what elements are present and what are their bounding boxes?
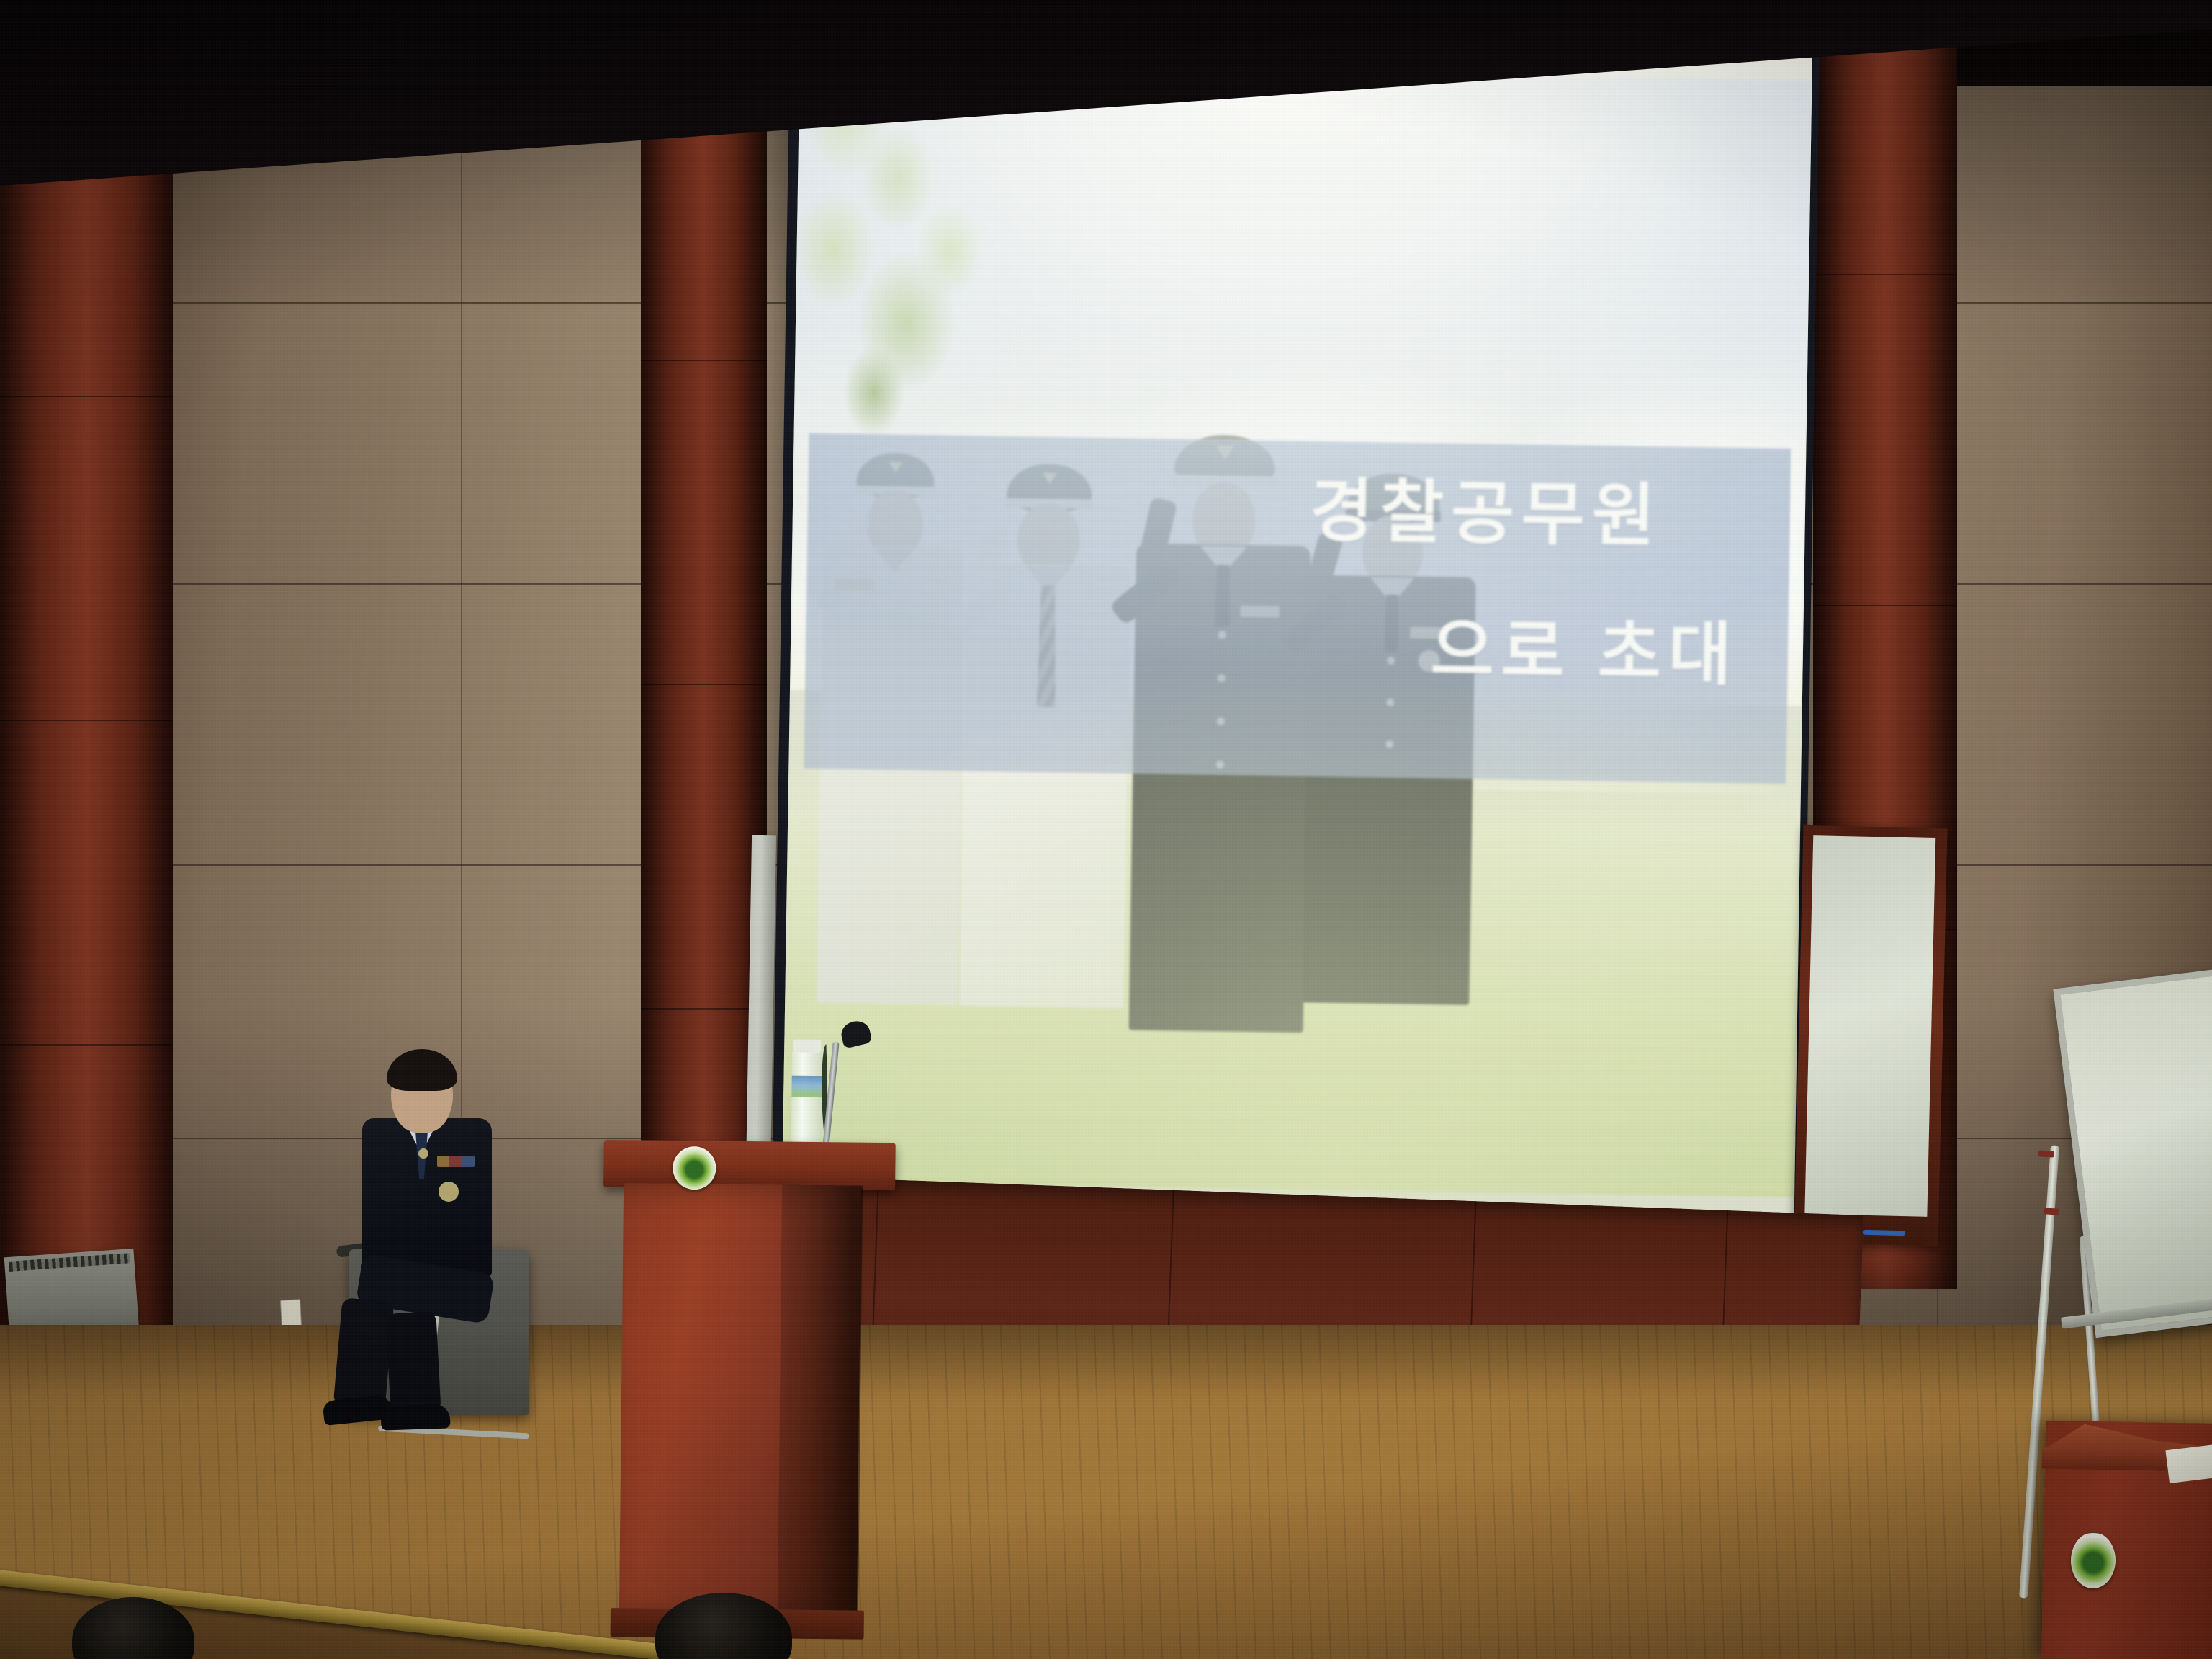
slide-title-banner: 경찰공무원 으로 초대: [804, 433, 1791, 784]
projection-screen: 경찰공무원 으로 초대: [772, 0, 1821, 1232]
slide-leaves: [783, 64, 1053, 493]
slide-title-line-2: 으로 초대: [1430, 594, 1740, 699]
water-bottle-label: [791, 1076, 822, 1097]
officer-chest-badge: [439, 1182, 459, 1202]
wall-white-panel-face: [1804, 835, 1935, 1217]
slide-title-line-1: 경찰공무원: [1309, 454, 1663, 560]
whiteboard-easel-clamp-top: [2038, 1150, 2055, 1158]
paper-sheet[interactable]: [2165, 1444, 2212, 1483]
auditorium-photo: 경찰공무원 으로 초대: [0, 0, 2212, 1659]
wall-white-panel: [1794, 825, 1947, 1246]
lectern[interactable]: [606, 1140, 889, 1659]
officer-ribbon-bar: [437, 1156, 475, 1167]
presentation-slide: 경찰공무원 으로 초대: [782, 64, 1812, 1197]
lectern-side-bevel: [778, 1184, 863, 1617]
projection-screen-surface: 경찰공무원 으로 초대: [782, 0, 1814, 1226]
seated-police-officer: [284, 1048, 544, 1451]
lectern-crest-emblem: [673, 1146, 716, 1190]
marker-blue: [1863, 1230, 1905, 1236]
officer-lapel-pin: [418, 1148, 428, 1159]
wall-wood-column-left: [0, 86, 173, 1354]
whiteboard-easel-clamp-mid: [2044, 1208, 2060, 1215]
officer-legs: [319, 1264, 485, 1408]
officer-shoe-back: [380, 1403, 450, 1430]
officer-shin-front: [333, 1298, 395, 1410]
officer-shin-back: [385, 1311, 441, 1414]
water-bottle-cap: [793, 1040, 821, 1053]
officer-hair: [387, 1049, 457, 1091]
